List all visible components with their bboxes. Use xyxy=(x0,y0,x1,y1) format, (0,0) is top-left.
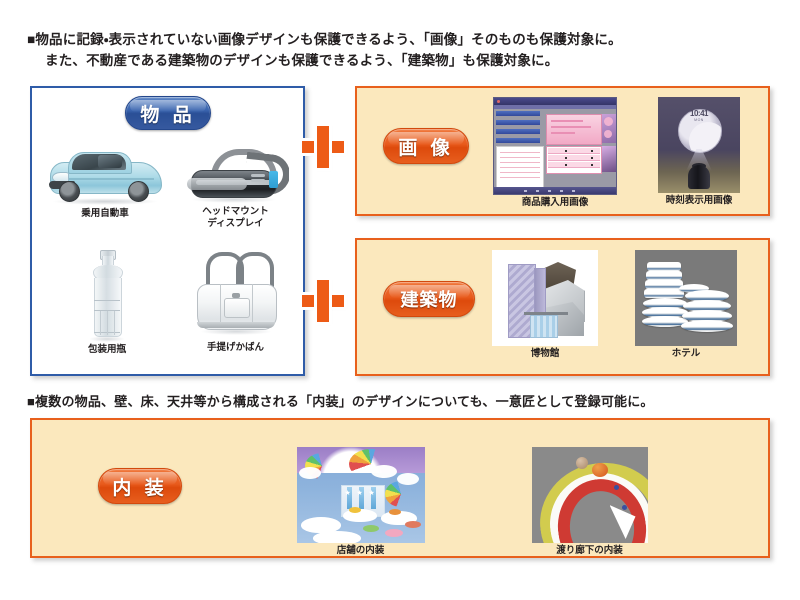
corridor-sphere-2 xyxy=(592,463,608,477)
store-star-2: ★ xyxy=(357,489,363,497)
screen-footer-bar xyxy=(494,187,616,194)
sidebar-line-2 xyxy=(500,157,540,158)
bottle-neck xyxy=(102,256,114,265)
label-pill-interior-text: 内 装 xyxy=(112,473,167,500)
footer-dot xyxy=(524,190,527,192)
bag-base-trim xyxy=(197,322,275,328)
label-pill-articles-text: 物 品 xyxy=(140,100,195,127)
label-pill-buildings-text: 建築物 xyxy=(401,286,458,312)
sidebar-line xyxy=(500,152,540,153)
label-pill-interior: 内 装 xyxy=(98,468,182,504)
bottle-body xyxy=(94,278,122,310)
item-handbag: 手提げかばん xyxy=(178,248,293,354)
screen-circle-2 xyxy=(604,130,612,138)
nav-item-3 xyxy=(496,129,540,134)
footer-dot-5 xyxy=(572,190,575,192)
corridor-dot-2 xyxy=(622,505,627,510)
bottle-flute-3 xyxy=(114,311,115,335)
store-star-3: ★ xyxy=(369,489,375,497)
sidebar-line-4 xyxy=(500,167,540,168)
handbag-icon xyxy=(190,248,282,340)
screen-sub-bar xyxy=(494,105,616,109)
sidebar-line-3 xyxy=(500,162,540,163)
corridor-sphere xyxy=(576,457,588,469)
footer-dot-4 xyxy=(560,190,563,192)
store-rainbow-right xyxy=(385,481,417,507)
corridor-dot xyxy=(614,485,619,490)
screen-title-bar xyxy=(494,98,616,105)
list-bullet-4 xyxy=(591,150,593,152)
item-passenger-car: 乗用自動車 xyxy=(45,148,165,220)
store-pod-2 xyxy=(389,509,401,515)
screen-hero-panel xyxy=(546,114,602,145)
store-pod-4 xyxy=(385,529,403,537)
hotel-floor-square-4 xyxy=(644,289,684,298)
sidebar-line-6 xyxy=(500,177,540,178)
item-caption: 乗用自動車 xyxy=(45,208,165,220)
item-caption: 包装用瓶 xyxy=(52,344,162,356)
store-star: ★ xyxy=(345,489,351,497)
item-corridor-interior: 渡り廊下の内装 xyxy=(527,447,652,557)
item-hotel: ホテル xyxy=(627,250,745,360)
plus-vertical-bar xyxy=(317,126,329,168)
store-cloud-2 xyxy=(371,465,397,478)
hero-line xyxy=(551,120,583,122)
item-caption: 手提げかばん xyxy=(178,342,293,354)
item-museum: 博物館 xyxy=(484,250,606,360)
store-floor-cloud-4 xyxy=(313,531,361,543)
screen-circle xyxy=(604,117,613,126)
plus-vertical-bar xyxy=(317,280,329,322)
item-caption: 博物館 xyxy=(484,348,606,360)
screen-thumbnail xyxy=(602,146,616,172)
item-caption: ヘッドマウント ディスプレイ xyxy=(178,206,293,230)
item-caption: 店舗の内装 xyxy=(293,545,428,557)
footer-dot-2 xyxy=(536,190,539,192)
label-pill-buildings: 建築物 xyxy=(383,281,475,317)
infographic-page: ■物品に記録・表示されていない画像デザインも保護できるよう、「画像」そのものも保… xyxy=(0,0,800,600)
bottle-flute-2 xyxy=(107,311,108,335)
hmd-button-2 xyxy=(251,179,265,182)
store-pod-3 xyxy=(363,525,379,532)
clock-time-subtext: MON xyxy=(658,118,740,122)
item-caption: 渡り廊下の内装 xyxy=(527,545,652,557)
hero-line-2 xyxy=(551,126,591,128)
hotel-tower2-disc-5 xyxy=(681,320,733,332)
connecting-corridor-interior-icon xyxy=(532,447,648,543)
heading-line-2: ■複数の物品、壁、床、天井等から構成される「内装」のデザインについても、一意匠と… xyxy=(27,392,654,412)
list-bullet xyxy=(565,150,567,152)
hmd-accent-panel xyxy=(269,171,278,188)
item-caption: ホテル xyxy=(627,348,745,360)
head-mounted-display-icon xyxy=(183,148,289,204)
hotel-floor-square-2 xyxy=(646,271,682,280)
footer-dot-3 xyxy=(548,190,551,192)
clock-time-text: 10:41 xyxy=(658,109,740,118)
plus-sign-building xyxy=(300,278,346,324)
hmd-button xyxy=(251,174,265,177)
nav-item-2 xyxy=(496,120,540,125)
shopping-screen-image-icon xyxy=(493,97,617,195)
store-pod-5 xyxy=(405,521,421,528)
sidebar-line-5 xyxy=(500,172,540,173)
item-caption: 商品購入用画像 xyxy=(490,197,620,209)
label-pill-images-text: 画 像 xyxy=(398,133,453,160)
car-side-window xyxy=(98,155,122,168)
car-trim xyxy=(56,178,154,180)
item-caption: 時刻表示用画像 xyxy=(640,195,758,207)
heading-line-1: ■物品に記録・表示されていない画像デザインも保護できるよう、「画像」そのものも保… xyxy=(27,30,622,50)
bottle-flute xyxy=(100,311,101,335)
museum-building-icon xyxy=(492,250,598,346)
packaging-bottle-icon xyxy=(85,248,129,342)
list-bullet-5 xyxy=(591,157,593,159)
passenger-car-icon xyxy=(46,148,164,206)
label-pill-articles: 物 品 xyxy=(125,96,211,130)
plus-sign-image xyxy=(300,124,346,170)
museum-entrance-glass xyxy=(530,315,558,338)
list-bullet-6 xyxy=(591,164,593,166)
hero-line-3 xyxy=(551,132,575,134)
bag-pocket xyxy=(224,298,250,318)
car-front-wheel xyxy=(59,181,80,202)
hotel-building-icon xyxy=(635,250,737,346)
heading-line-1b: また、不動産である建築物のデザインも保護できるよう、「建築物」も保護対象に。 xyxy=(45,51,558,71)
car-rear-wheel xyxy=(128,181,149,202)
hotel-floor-square xyxy=(647,262,681,271)
nav-item xyxy=(496,111,540,116)
screen-list-panel xyxy=(546,146,602,174)
screen-sidebar-panel xyxy=(496,146,544,188)
item-packaging-bottle: 包装用瓶 xyxy=(52,248,162,356)
store-cloud xyxy=(299,467,321,479)
item-shopping-screen-image: 商品購入用画像 xyxy=(490,97,620,209)
label-pill-images: 画 像 xyxy=(383,128,469,164)
hotel-floor-square-3 xyxy=(645,280,683,289)
bottle-band xyxy=(94,300,120,301)
hmd-face-pad xyxy=(187,178,247,190)
clock-projection-image-icon: 10:41 MON xyxy=(658,97,740,193)
item-store-interior: ★ ★ ★ 店舗の内装 xyxy=(293,447,428,557)
store-cloud-3 xyxy=(397,473,419,485)
nav-item-4 xyxy=(496,138,540,143)
item-clock-projection-image: 10:41 MON 時刻表示用画像 xyxy=(640,97,758,207)
item-head-mounted-display: ヘッドマウント ディスプレイ xyxy=(178,148,293,230)
list-bullet-3 xyxy=(565,164,567,166)
list-bullet-2 xyxy=(565,157,567,159)
store-interior-icon: ★ ★ ★ xyxy=(297,447,425,543)
screen-title-dot xyxy=(497,100,500,103)
clock-crescent xyxy=(689,122,722,153)
store-pod xyxy=(349,507,361,513)
projector-device xyxy=(688,165,710,189)
